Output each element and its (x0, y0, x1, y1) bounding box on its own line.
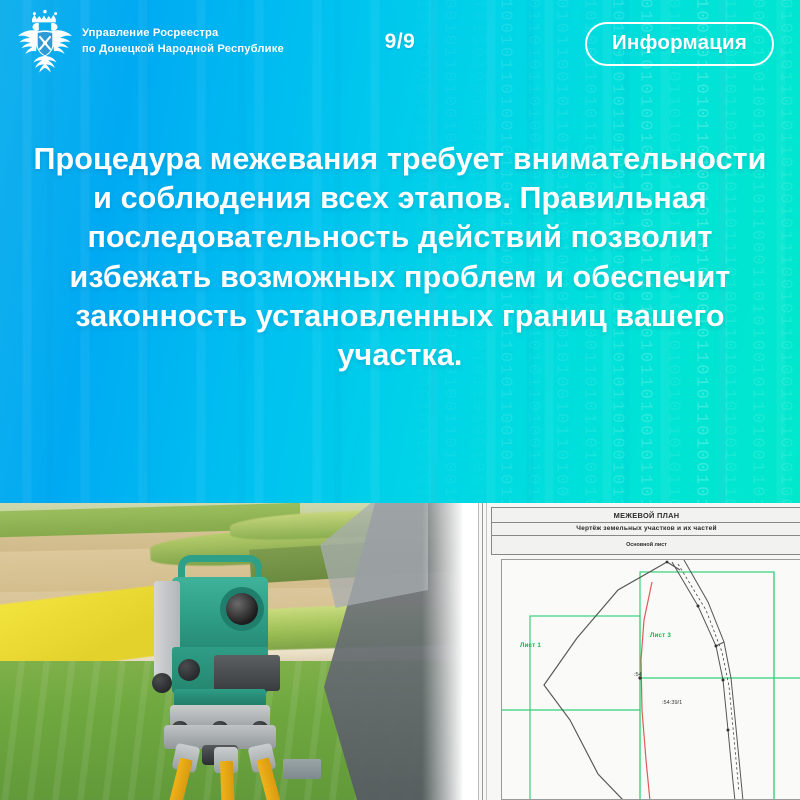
telescope-lens-icon (226, 593, 258, 625)
headline-text: Процедура межевания требует внимательнос… (20, 140, 780, 375)
plan-label-sheet-3: Лист 3 (650, 632, 671, 639)
total-station-theodolite (150, 555, 318, 800)
info-badge[interactable]: Информация (585, 22, 774, 66)
document-title: МЕЖЕВОЙ ПЛАН (492, 508, 800, 523)
document-sheet-label: Основной лист (492, 536, 800, 554)
media-row: МЕЖЕВОЙ ПЛАН Чертёж земельных участков и… (0, 503, 800, 800)
cadastral-drawing-canvas: Лист 1 Лист 3 :54:39/1 :54 (501, 559, 800, 800)
header: Управление Росреестра по Донецкой Народн… (0, 0, 800, 88)
plan-label-cadastral-number: :54:39/1 (662, 700, 682, 706)
plan-label-sheet-1: Лист 1 (520, 642, 541, 649)
plan-label-node: :54 (634, 672, 642, 678)
field-photo (0, 503, 462, 800)
document-header: МЕЖЕВОЙ ПЛАН Чертёж земельных участков и… (491, 507, 800, 555)
survey-plan-document: МЕЖЕВОЙ ПЛАН Чертёж земельных участков и… (478, 503, 800, 800)
document-subtitle: Чертёж земельных участков и их частей (492, 523, 800, 536)
top-gradient-panel: 1010011010110100101101010110100110100101… (0, 0, 800, 503)
slide-root: 1010011010110100101101010110100110100101… (0, 0, 800, 800)
